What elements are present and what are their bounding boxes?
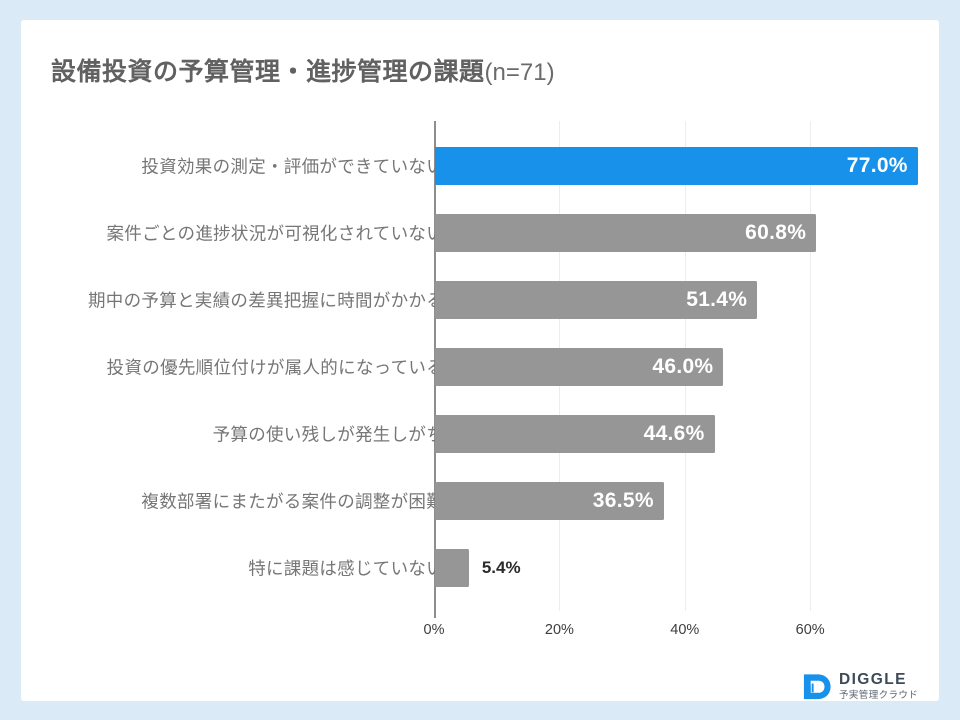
bar-row: 複数部署にまたがる案件の調整が困難36.5% (21, 482, 939, 520)
bar[interactable] (435, 549, 469, 587)
bar[interactable]: 77.0% (435, 147, 918, 185)
bar[interactable]: 36.5% (435, 482, 664, 520)
bar[interactable]: 51.4% (435, 281, 757, 319)
x-axis-tick-label: 20% (545, 622, 574, 638)
bar-category-label: 案件ごとの進捗状況が可視化されていない (107, 221, 445, 246)
bar-category-label: 投資効果の測定・評価ができていない (141, 154, 444, 179)
bar-value-label: 77.0% (847, 154, 908, 178)
bar[interactable]: 60.8% (435, 214, 816, 252)
diggle-logo: DIGGLE 予実管理クラウド (801, 668, 933, 704)
diggle-tagline: 予実管理クラウド (839, 691, 918, 701)
bar-row: 期中の予算と実績の差異把握に時間がかかる51.4% (21, 281, 939, 319)
bar[interactable]: 44.6% (435, 415, 715, 453)
slide-background: 設備投資の予算管理・進捗管理の課題(n=71) 投資効果の測定・評価ができていな… (0, 0, 960, 720)
diggle-logo-icon (801, 671, 832, 702)
bar-category-label: 投資の優先順位付けが属人的になっている (107, 355, 444, 380)
bar-value-label: 5.4% (482, 558, 521, 578)
bar-value-label: 36.5% (593, 489, 654, 513)
bar-row: 案件ごとの進捗状況が可視化されていない60.8% (21, 214, 939, 252)
chart-card: 設備投資の予算管理・進捗管理の課題(n=71) 投資効果の測定・評価ができていな… (21, 20, 939, 701)
bar-value-label: 51.4% (686, 288, 747, 312)
x-axis-tick-label: 40% (670, 622, 699, 638)
x-axis-tick-label: 60% (796, 622, 825, 638)
bar-row: 投資効果の測定・評価ができていない77.0% (21, 147, 939, 185)
bar-category-label: 特に課題は感じていない (248, 556, 444, 581)
bar-value-label: 46.0% (652, 355, 713, 379)
bar-row: 投資の優先順位付けが属人的になっている46.0% (21, 348, 939, 386)
bar-row: 予算の使い残しが発生しがち44.6% (21, 415, 939, 453)
bar-value-label: 60.8% (745, 221, 806, 245)
diggle-wordmark: DIGGLE (839, 672, 918, 688)
bar-category-label: 期中の予算と実績の差異把握に時間がかかる (88, 288, 444, 313)
bar-row: 特に課題は感じていない5.4% (21, 549, 939, 587)
bar-category-label: 複数部署にまたがる案件の調整が困難 (141, 489, 444, 514)
bar[interactable]: 46.0% (435, 348, 723, 386)
bar-value-label: 44.6% (644, 422, 705, 446)
bar-chart: 投資効果の測定・評価ができていない77.0%案件ごとの進捗状況が可視化されていな… (21, 20, 939, 701)
x-axis-tick-label: 0% (424, 622, 445, 638)
bar-category-label: 予算の使い残しが発生しがち (213, 422, 444, 447)
diggle-logo-text: DIGGLE 予実管理クラウド (839, 672, 918, 700)
